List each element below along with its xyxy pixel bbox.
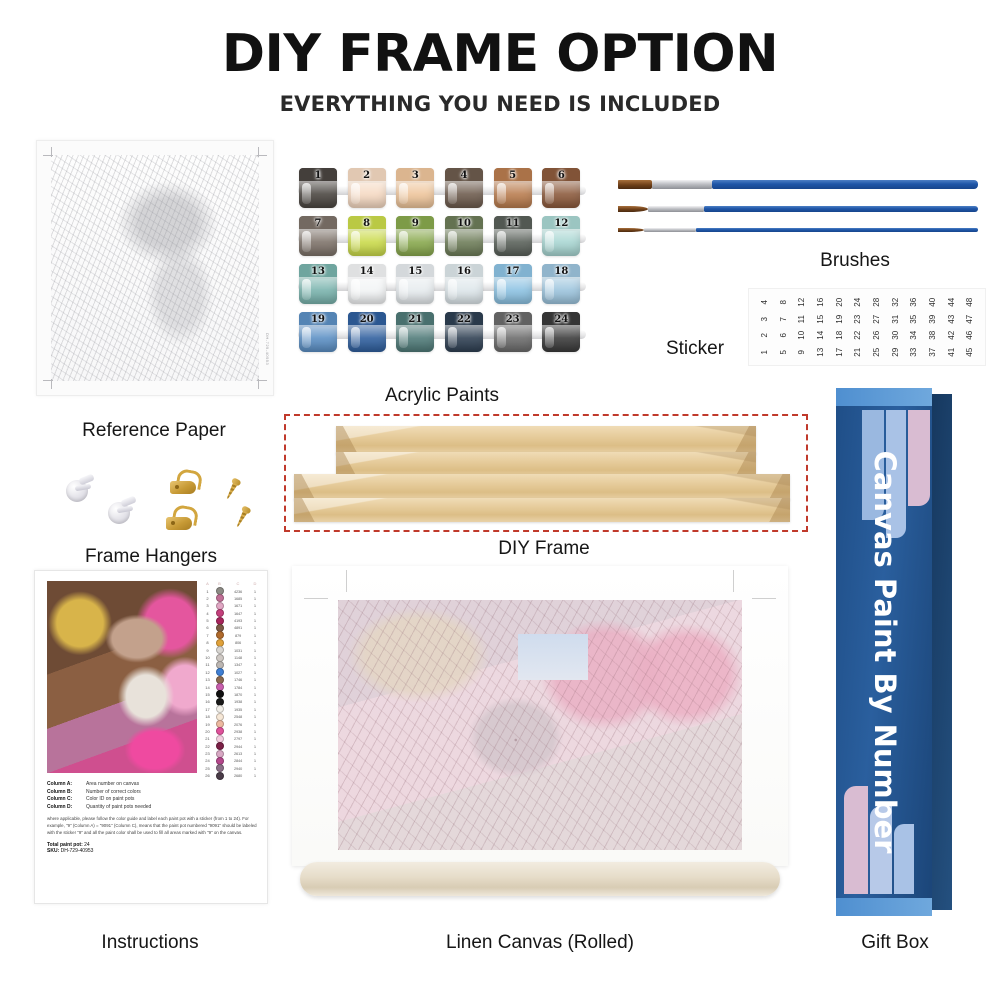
- crop-mark: [257, 155, 267, 156]
- legend-quantity: 1: [254, 707, 256, 712]
- paint-pot: 3: [396, 168, 434, 208]
- legend-row: 648911: [203, 624, 259, 631]
- sticker-number: 14: [812, 326, 829, 345]
- crop-mark: [346, 570, 347, 592]
- sku-value: DH-729-40953: [61, 848, 94, 854]
- legend-quantity: 1: [254, 773, 256, 778]
- legend-color-dot: [216, 772, 224, 780]
- column-description: Quantity of paint pots needed: [86, 804, 151, 810]
- canvas-rolled-edge: [300, 862, 780, 896]
- caption-brushes: Brushes: [760, 250, 950, 272]
- sticker-number: 33: [905, 342, 922, 361]
- paint-pot-highlight: [302, 279, 311, 300]
- sticker-number: 37: [924, 342, 941, 361]
- legend-color-code: 1938: [234, 699, 242, 704]
- brush-bristles: [618, 180, 652, 189]
- sticker-number: 16: [812, 293, 829, 312]
- legend-area-number: 22: [205, 744, 209, 749]
- crop-mark: [752, 598, 776, 599]
- legend-row: 541931: [203, 617, 259, 624]
- reference-paper-code: DH-729-40953: [265, 333, 270, 365]
- sticker-number: 24: [849, 293, 866, 312]
- paint-pot: 16: [445, 264, 483, 304]
- legend-area-number: 5: [206, 618, 208, 623]
- legend-row: 1317461: [203, 676, 259, 683]
- paint-pot-row: 192021222324: [296, 310, 588, 354]
- d-ring-hanger-icon: [170, 470, 198, 494]
- paint-pot-highlight: [545, 231, 554, 252]
- paint-pot-highlight: [399, 183, 408, 204]
- paint-pot: 20: [348, 312, 386, 352]
- paint-pot: 4: [445, 168, 483, 208]
- legend-quantity: 1: [254, 640, 256, 645]
- page-subtitle: EVERYTHING YOU NEED IS INCLUDED: [0, 92, 1000, 116]
- paint-pot: 8: [348, 216, 386, 256]
- sticker-number: 22: [849, 326, 866, 345]
- screw-icon: [233, 505, 251, 529]
- diy-frame-group: [284, 414, 808, 532]
- legend-quantity: 1: [254, 618, 256, 623]
- legend-column-header: C: [237, 581, 240, 586]
- stretcher-bar: [294, 474, 790, 500]
- caption-acrylic-paints: Acrylic Paints: [296, 385, 588, 407]
- legend-color-code: 879: [235, 633, 241, 638]
- legend-color-code: 2680: [234, 773, 242, 778]
- paint-pot-highlight: [351, 231, 360, 252]
- legend-row: 1825481: [203, 713, 259, 720]
- paint-pot-number: 11: [494, 216, 532, 231]
- legend-quantity: 1: [254, 670, 256, 675]
- paint-pot-highlight: [399, 327, 408, 348]
- caption-frame-hangers: Frame Hangers: [36, 546, 266, 568]
- d-ring-hanger-icon: [166, 506, 194, 530]
- legend-row: 316711: [203, 602, 259, 609]
- paint-pot-number: 5: [494, 168, 532, 183]
- legend-row: 1518701: [203, 690, 259, 697]
- paint-pot-highlight: [399, 279, 408, 300]
- legend-color-code: 4236: [234, 589, 242, 594]
- caption-instructions: Instructions: [34, 932, 266, 954]
- legend-row: 1619381: [203, 698, 259, 705]
- sticker-number: 44: [943, 293, 960, 312]
- legend-area-number: 3: [206, 603, 208, 608]
- column-label: Column A:: [47, 781, 81, 787]
- paint-pot-highlight: [448, 183, 457, 204]
- legend-color-code: 1685: [234, 596, 242, 601]
- brush-bristles: [618, 228, 644, 232]
- legend-row: 1719351: [203, 705, 259, 712]
- brush-ferrule: [644, 228, 696, 232]
- caption-gift-box: Gift Box: [830, 932, 960, 954]
- column-definitions: Column A:Area number on canvasColumn B:N…: [47, 781, 257, 810]
- legend-color-code: 806: [235, 640, 241, 645]
- legend-color-code: 1746: [234, 677, 242, 682]
- paint-pot-highlight: [545, 279, 554, 300]
- paint-pot-highlight: [351, 279, 360, 300]
- sticker-number: 9: [793, 342, 810, 361]
- legend-row: 1920761: [203, 720, 259, 727]
- paint-pot-highlight: [448, 231, 457, 252]
- legend-color-code: 4193: [234, 618, 242, 623]
- paint-pot: 21: [396, 312, 434, 352]
- legend-color-code: 4891: [234, 625, 242, 630]
- column-definition: Column B:Number of correct colors: [47, 789, 257, 795]
- crop-mark: [733, 570, 734, 592]
- sticker-number: 32: [887, 293, 904, 312]
- paint-pot: 18: [542, 264, 580, 304]
- caption-reference-paper: Reference Paper: [36, 420, 272, 442]
- wall-hook-icon: [108, 498, 134, 524]
- legend-row: 910311: [203, 646, 259, 653]
- brush-bristles: [618, 206, 648, 212]
- crop-mark: [43, 380, 53, 381]
- wall-hook-icon: [66, 476, 92, 502]
- legend-quantity: 1: [254, 633, 256, 638]
- crop-mark: [43, 155, 53, 156]
- legend-color-code: 1647: [234, 611, 242, 616]
- legend-header-row: ABCD: [203, 581, 259, 586]
- legend-area-number: 19: [205, 722, 209, 727]
- legend-area-number: 26: [205, 773, 209, 778]
- legend-color-code: 1935: [234, 707, 242, 712]
- paint-pot: 9: [396, 216, 434, 256]
- paint-pot-number: 22: [445, 312, 483, 327]
- legend-quantity: 1: [254, 758, 256, 763]
- sticker-number: 29: [887, 342, 904, 361]
- paint-pot: 2: [348, 168, 386, 208]
- legend-quantity: 1: [254, 677, 256, 682]
- caption-linen-canvas: Linen Canvas (Rolled): [292, 932, 788, 954]
- legend-row: 2626801: [203, 772, 259, 779]
- instructions-text: Column A:Area number on canvasColumn B:N…: [47, 781, 257, 854]
- paint-pot-number: 14: [348, 264, 386, 279]
- legend-column-header: B: [218, 581, 221, 586]
- legend-row: 216851: [203, 594, 259, 601]
- paint-pot-highlight: [302, 231, 311, 252]
- column-label: Column B:: [47, 789, 81, 795]
- legend-row: 1011481: [203, 654, 259, 661]
- legend-quantity: 1: [254, 596, 256, 601]
- instructions-footer: Total paint pot: 24 SKU: DH-729-40953: [47, 842, 257, 854]
- paint-pot: 15: [396, 264, 434, 304]
- legend-color-code: 2548: [234, 714, 242, 719]
- paint-pot-number: 15: [396, 264, 434, 279]
- gift-box-front: Canvas Paint By Number: [836, 388, 932, 916]
- sku-label: SKU:: [47, 848, 59, 854]
- legend-quantity: 1: [254, 766, 256, 771]
- paint-pot-highlight: [545, 183, 554, 204]
- instructions-artwork: [47, 581, 197, 773]
- sticker-number: 41: [943, 342, 960, 361]
- legend-quantity: 1: [254, 611, 256, 616]
- legend-quantity: 1: [254, 736, 256, 741]
- paint-brush: [618, 180, 978, 189]
- legend-rows: 1423612168513167114164715419316489117879…: [203, 587, 259, 779]
- paint-pot-row: 123456: [296, 166, 588, 210]
- legend-color-code: 1671: [234, 603, 242, 608]
- legend-area-number: 13: [205, 677, 209, 682]
- brush-handle: [712, 180, 978, 189]
- column-description: Number of correct colors: [86, 789, 141, 795]
- legend-quantity: 1: [254, 744, 256, 749]
- paint-pot-number: 18: [542, 264, 580, 279]
- legend-quantity: 1: [254, 751, 256, 756]
- legend-row: 1113471: [203, 661, 259, 668]
- canvas-sky-region: [518, 634, 588, 680]
- legend-area-number: 8: [206, 640, 208, 645]
- sticker-number: 5: [775, 342, 792, 361]
- column-label: Column D:: [47, 804, 81, 810]
- sticker-number: 8: [775, 293, 792, 312]
- paint-pot-number: 4: [445, 168, 483, 183]
- sticker-sheet: 4812162024283236404448371115192327313539…: [748, 288, 986, 366]
- sticker-number: 25: [868, 342, 885, 361]
- gift-box-label: Canvas Paint By Number: [868, 451, 900, 854]
- legend-area-number: 10: [205, 655, 209, 660]
- paint-pot-highlight: [497, 183, 506, 204]
- legend-row: 2127971: [203, 735, 259, 742]
- legend-area-number: 1: [206, 589, 208, 594]
- brush-ferrule: [652, 180, 712, 189]
- infographic-root: DIY FRAME OPTION EVERYTHING YOU NEED IS …: [0, 0, 1000, 1000]
- sticker-number: 4: [756, 293, 773, 312]
- paint-pot: 17: [494, 264, 532, 304]
- legend-column-header: A: [206, 581, 209, 586]
- paint-pot-number: 12: [542, 216, 580, 231]
- brushes-group: [618, 176, 978, 256]
- legend-area-number: 16: [205, 699, 209, 704]
- legend-color-code: 1027: [234, 670, 242, 675]
- legend-area-number: 21: [205, 736, 209, 741]
- frame-hangers-group: [66, 468, 266, 540]
- legend-area-number: 15: [205, 692, 209, 697]
- paint-pot: 5: [494, 168, 532, 208]
- paint-pot-highlight: [497, 279, 506, 300]
- legend-color-code: 2844: [234, 758, 242, 763]
- legend-area-number: 9: [206, 648, 208, 653]
- column-description: Color ID on paint pots: [86, 796, 134, 802]
- legend-area-number: 25: [205, 766, 209, 771]
- legend-quantity: 1: [254, 589, 256, 594]
- paint-pot-number: 10: [445, 216, 483, 231]
- legend-quantity: 1: [254, 648, 256, 653]
- paint-pot-number: 6: [542, 168, 580, 183]
- paint-pot: 22: [445, 312, 483, 352]
- paint-pot-number: 13: [299, 264, 337, 279]
- linen-canvas-group: [292, 566, 788, 910]
- paint-pot-highlight: [302, 183, 311, 204]
- brush-handle: [696, 228, 978, 232]
- gift-box: Canvas Paint By Number: [836, 388, 952, 916]
- paint-pot-number: 1: [299, 168, 337, 183]
- sticker-number: 13: [812, 342, 829, 361]
- paint-pot: 12: [542, 216, 580, 256]
- sticker-number: 20: [831, 293, 848, 312]
- paint-pot-number: 8: [348, 216, 386, 231]
- reference-paper-lineart: [51, 155, 259, 381]
- acrylic-paints-group: 123456789101112131415161718192021222324: [296, 166, 588, 358]
- paint-pot-highlight: [448, 327, 457, 348]
- legend-color-code: 2076: [234, 722, 242, 727]
- paint-pot: 24: [542, 312, 580, 352]
- legend-area-number: 7: [206, 633, 208, 638]
- legend-area-number: 18: [205, 714, 209, 719]
- paint-pot: 19: [299, 312, 337, 352]
- paint-pot-number: 23: [494, 312, 532, 327]
- page-title: DIY FRAME OPTION: [0, 24, 1000, 84]
- legend-area-number: 2: [206, 596, 208, 601]
- paint-pot: 23: [494, 312, 532, 352]
- legend-row: 2428441: [203, 757, 259, 764]
- legend-row: 1417841: [203, 683, 259, 690]
- legend-quantity: 1: [254, 692, 256, 697]
- legend-color-code: 2797: [234, 736, 242, 741]
- legend-color-code: 1148: [234, 655, 242, 660]
- legend-quantity: 1: [254, 714, 256, 719]
- column-definition: Column D:Quantity of paint pots needed: [47, 804, 257, 810]
- paint-pot-row: 131415161718: [296, 262, 588, 306]
- sticker-number: 42: [943, 326, 960, 345]
- legend-quantity: 1: [254, 722, 256, 727]
- paint-pot: 11: [494, 216, 532, 256]
- legend-area-number: 6: [206, 625, 208, 630]
- legend-color-dot: [216, 609, 224, 617]
- column-definition: Column A:Area number on canvas: [47, 781, 257, 787]
- legend-quantity: 1: [254, 662, 256, 667]
- legend-quantity: 1: [254, 625, 256, 630]
- column-label: Column C:: [47, 796, 81, 802]
- sticker-number: 46: [961, 326, 978, 345]
- sticker-number: 17: [831, 342, 848, 361]
- sticker-number: 18: [831, 326, 848, 345]
- gift-box-side: [932, 394, 952, 910]
- paint-pot: 1: [299, 168, 337, 208]
- legend-area-number: 4: [206, 611, 208, 616]
- paint-pot-highlight: [448, 279, 457, 300]
- canvas-sheet: [292, 566, 788, 866]
- brush-ferrule: [648, 206, 704, 212]
- paint-pot-number: 21: [396, 312, 434, 327]
- legend-color-code: 1031: [234, 648, 242, 653]
- paint-pot-highlight: [497, 231, 506, 252]
- legend-area-number: 17: [205, 707, 209, 712]
- column-definition: Column C:Color ID on paint pots: [47, 796, 257, 802]
- brush-handle: [704, 206, 978, 212]
- sticker-number: 28: [868, 293, 885, 312]
- legend-row: 2229441: [203, 742, 259, 749]
- sticker-number: 26: [868, 326, 885, 345]
- sticker-number: 34: [905, 326, 922, 345]
- legend-color-code: 1870: [234, 692, 242, 697]
- sticker-number: 45: [961, 342, 978, 361]
- column-description: Area number on canvas: [86, 781, 139, 787]
- caption-diy-frame: DIY Frame: [284, 538, 804, 560]
- sticker-number: 48: [961, 293, 978, 312]
- legend-area-number: 11: [205, 662, 209, 667]
- paint-pot-number: 16: [445, 264, 483, 279]
- paint-pot-highlight: [302, 327, 311, 348]
- paint-pot: 7: [299, 216, 337, 256]
- paint-pot: 6: [542, 168, 580, 208]
- instructions-color-legend: ABCD 14236121685131671141647154193164891…: [203, 581, 259, 777]
- paint-pot-highlight: [399, 231, 408, 252]
- legend-quantity: 1: [254, 699, 256, 704]
- paint-brush: [618, 228, 978, 232]
- sticker-number: 40: [924, 293, 941, 312]
- legend-color-code: 2938: [234, 729, 242, 734]
- legend-area-number: 24: [205, 758, 209, 763]
- legend-area-number: 20: [205, 729, 209, 734]
- paint-pot-highlight: [545, 327, 554, 348]
- stretcher-bar: [294, 498, 790, 522]
- crop-mark: [257, 380, 267, 381]
- paint-pot-number: 7: [299, 216, 337, 231]
- paint-pot-number: 2: [348, 168, 386, 183]
- sticker-number: 12: [793, 293, 810, 312]
- sku: SKU: DH-729-40953: [47, 848, 257, 854]
- paint-pot: 13: [299, 264, 337, 304]
- legend-area-number: 12: [205, 670, 209, 675]
- legend-row: 1210271: [203, 668, 259, 675]
- legend-quantity: 1: [254, 729, 256, 734]
- paint-pot-number: 9: [396, 216, 434, 231]
- paint-pot-highlight: [351, 183, 360, 204]
- legend-quantity: 1: [254, 655, 256, 660]
- legend-area-number: 23: [205, 751, 209, 756]
- legend-color-code: 1347: [234, 662, 242, 667]
- legend-row: 2529401: [203, 764, 259, 771]
- gift-box-title: Canvas Paint By Number: [836, 388, 932, 916]
- paint-pot: 10: [445, 216, 483, 256]
- legend-row: 142361: [203, 587, 259, 594]
- legend-row: 416471: [203, 609, 259, 616]
- reference-paper: DH-729-40953: [36, 140, 274, 396]
- legend-row: 2029381: [203, 727, 259, 734]
- paint-pot-row: 789101112: [296, 214, 588, 258]
- instructions-sheet: ABCD 14236121685131671141647154193164891…: [34, 570, 268, 904]
- sticker-number-grid: 4812162024283236404448371115192327313539…: [755, 294, 979, 360]
- instructions-note: where applicable, please follow the colo…: [47, 815, 257, 837]
- sticker-number: 30: [887, 326, 904, 345]
- legend-color-dot: [216, 646, 224, 654]
- sticker-number: 36: [905, 293, 922, 312]
- sticker-number: 6: [775, 326, 792, 345]
- legend-color-code: 2944: [234, 744, 242, 749]
- legend-row: 78791: [203, 631, 259, 638]
- legend-color-code: 1784: [234, 685, 242, 690]
- caption-sticker: Sticker: [620, 338, 770, 360]
- sticker-number: 10: [793, 326, 810, 345]
- paint-pot: 14: [348, 264, 386, 304]
- legend-color-code: 2613: [234, 751, 242, 756]
- paint-pot-highlight: [351, 327, 360, 348]
- legend-area-number: 14: [205, 685, 209, 690]
- legend-row: 88061: [203, 639, 259, 646]
- paint-pot-highlight: [497, 327, 506, 348]
- legend-color-code: 2940: [234, 766, 242, 771]
- canvas-printed-outline: [338, 600, 742, 850]
- paint-pot-number: 17: [494, 264, 532, 279]
- paint-pot-number: 24: [542, 312, 580, 327]
- sticker-number: 21: [849, 342, 866, 361]
- legend-quantity: 1: [254, 685, 256, 690]
- paint-pot-number: 3: [396, 168, 434, 183]
- sticker-number: 38: [924, 326, 941, 345]
- screw-icon: [223, 477, 241, 501]
- paint-pot-number: 20: [348, 312, 386, 327]
- legend-row: 2326131: [203, 750, 259, 757]
- paint-pot-number: 19: [299, 312, 337, 327]
